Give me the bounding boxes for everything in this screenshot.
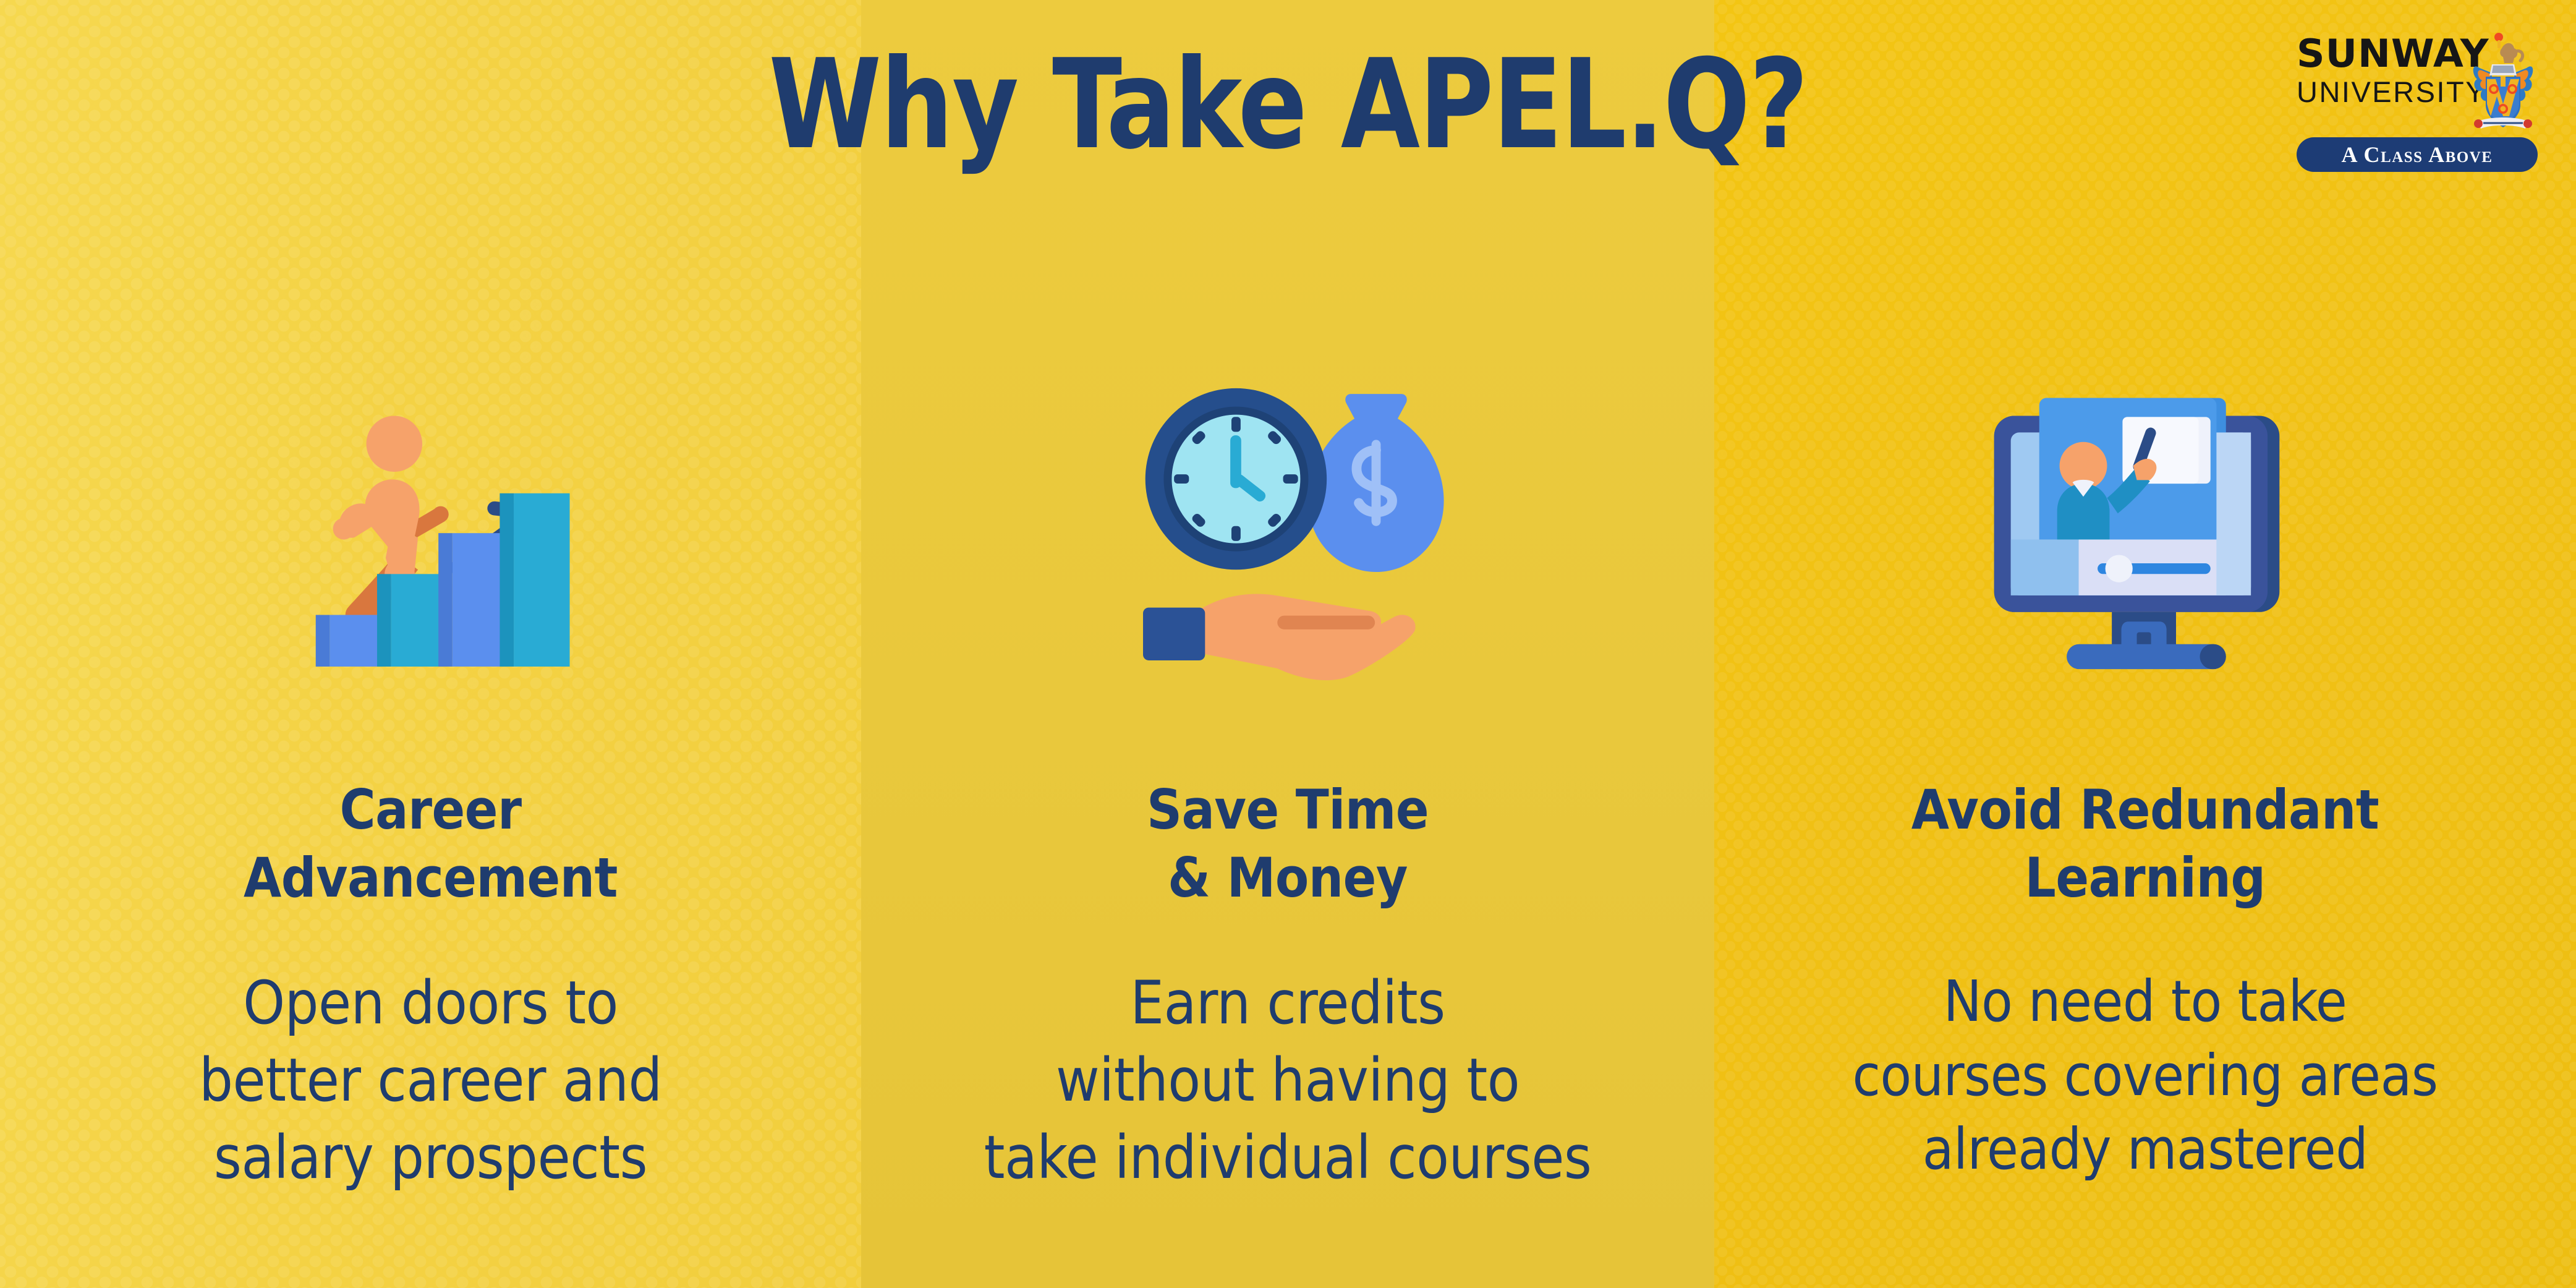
- open-hand-icon: [1143, 594, 1416, 680]
- clock-icon: [1146, 388, 1327, 569]
- benefit-heading-time-money: Save Time & Money: [861, 776, 1714, 912]
- benefit-body-time-money: Earn credits without having to take indi…: [861, 965, 1714, 1196]
- benefit-column-time-money: Save Time & Money Earn credits without h…: [861, 0, 1714, 1288]
- benefit-column-redundant-learning: Avoid Redundant Learning No need to take…: [1714, 0, 2576, 1288]
- infographic-canvas: Why Take APEL.Q? SUNWAY UNIVERSITY: [0, 0, 2576, 1288]
- time-money-icon: [861, 346, 1714, 717]
- benefit-columns: Career Advancement Open doors to better …: [0, 0, 2576, 1288]
- career-ladder-icon: [0, 334, 861, 717]
- online-learning-icon: [1714, 365, 2576, 699]
- benefit-body-redundant-learning: No need to take courses covering areas a…: [1714, 965, 2576, 1187]
- benefit-body-career: Open doors to better career and salary p…: [0, 965, 861, 1196]
- money-bag-icon: [1308, 394, 1443, 572]
- benefit-heading-career: Career Advancement: [0, 776, 861, 912]
- benefit-heading-redundant-learning: Avoid Redundant Learning: [1714, 776, 2576, 912]
- benefit-column-career: Career Advancement Open doors to better …: [0, 0, 861, 1288]
